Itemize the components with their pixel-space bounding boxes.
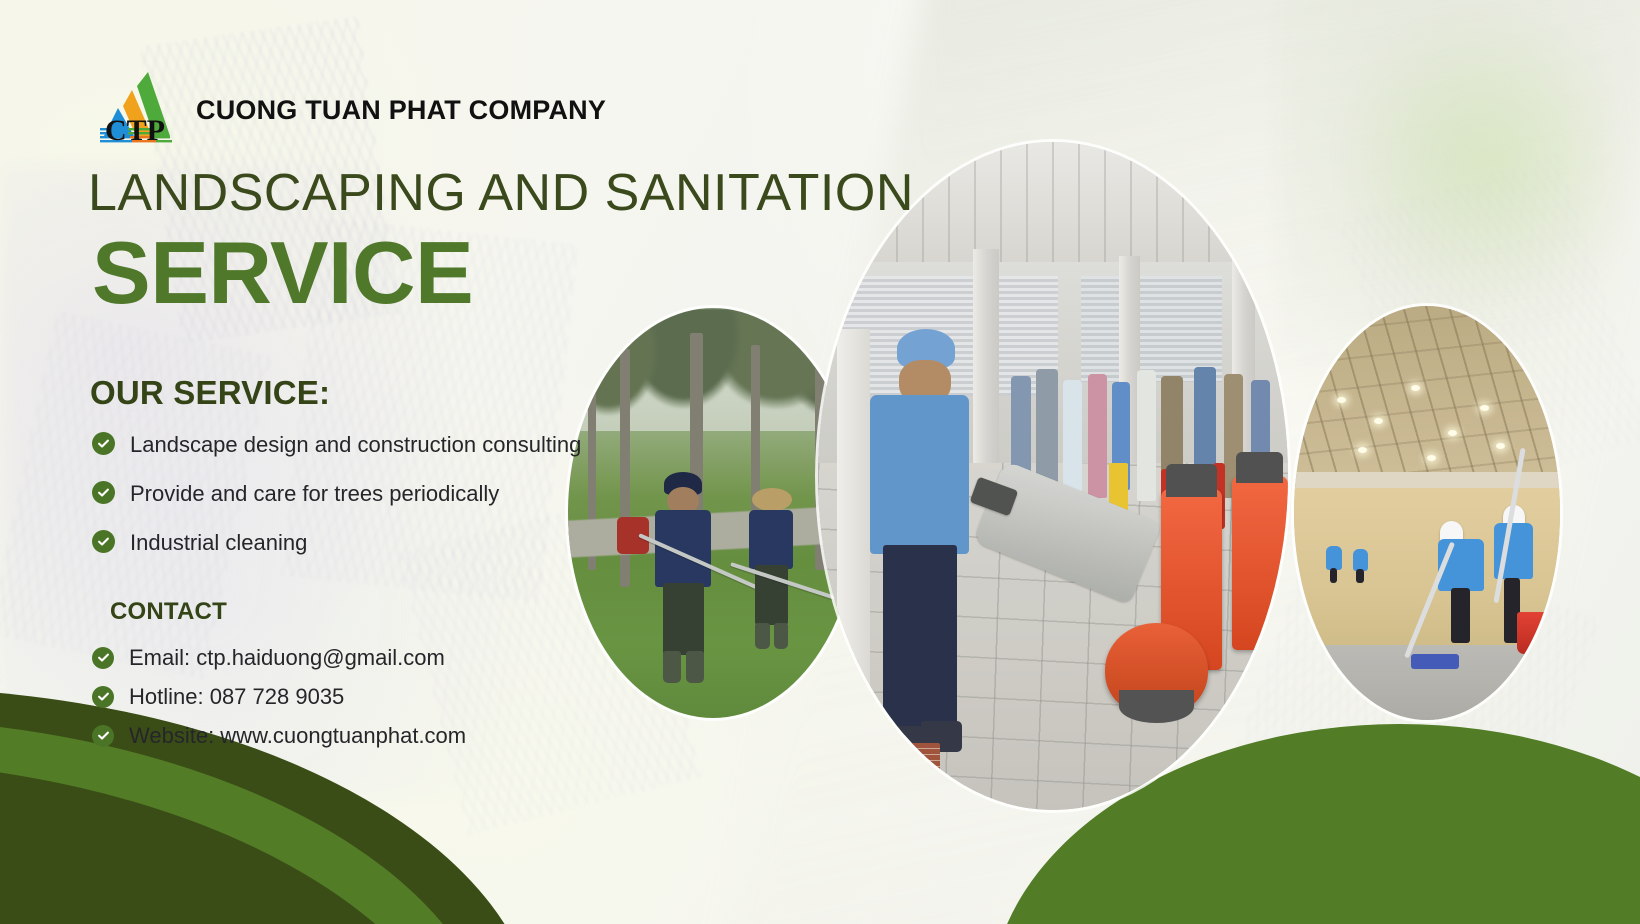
logo-text: CTP	[105, 114, 165, 147]
content-column: CTP CUONG TUAN PHAT COMPANY LANDSCAPING …	[0, 0, 640, 924]
service-item-label: Landscape design and construction consul…	[130, 428, 581, 463]
contact-list: Email: ctp.haiduong@gmail.com Hotline: 0…	[92, 641, 612, 758]
check-circle-icon	[92, 647, 114, 669]
list-item: Provide and care for trees periodically	[92, 477, 592, 512]
check-circle-icon	[92, 432, 115, 455]
headline-primary: LANDSCAPING AND SANITATION	[88, 163, 914, 223]
poster-canvas: CTP CUONG TUAN PHAT COMPANY LANDSCAPING …	[0, 0, 1640, 924]
check-circle-icon	[92, 481, 115, 504]
brand-header: CTP CUONG TUAN PHAT COMPANY	[92, 68, 606, 152]
contact-hotline[interactable]: Hotline: 087 728 9035	[129, 680, 344, 713]
service-item-label: Industrial cleaning	[130, 526, 307, 561]
list-item: Email: ctp.haiduong@gmail.com	[92, 641, 612, 674]
list-item: Industrial cleaning	[92, 526, 592, 561]
list-item: Hotline: 087 728 9035	[92, 680, 612, 713]
company-name: CUONG TUAN PHAT COMPANY	[196, 95, 606, 126]
headline-secondary: SERVICE	[92, 222, 473, 324]
list-item: Landscape design and construction consul…	[92, 428, 592, 463]
ctp-triangle-logo-icon: CTP	[92, 68, 178, 152]
photo-gym-mopping	[1294, 306, 1560, 720]
service-item-label: Provide and care for trees periodically	[130, 477, 499, 512]
check-circle-icon	[92, 686, 114, 708]
check-circle-icon	[92, 530, 115, 553]
check-circle-icon	[92, 725, 114, 747]
list-item: Website: www.cuongtuanphat.com	[92, 719, 612, 752]
contact-email[interactable]: Email: ctp.haiduong@gmail.com	[129, 641, 445, 674]
photo-floor-polishing	[818, 142, 1288, 810]
contact-title: CONTACT	[110, 598, 227, 626]
contact-website[interactable]: Website: www.cuongtuanphat.com	[129, 719, 466, 752]
our-service-title: OUR SERVICE:	[90, 374, 330, 412]
service-list: Landscape design and construction consul…	[92, 428, 592, 574]
